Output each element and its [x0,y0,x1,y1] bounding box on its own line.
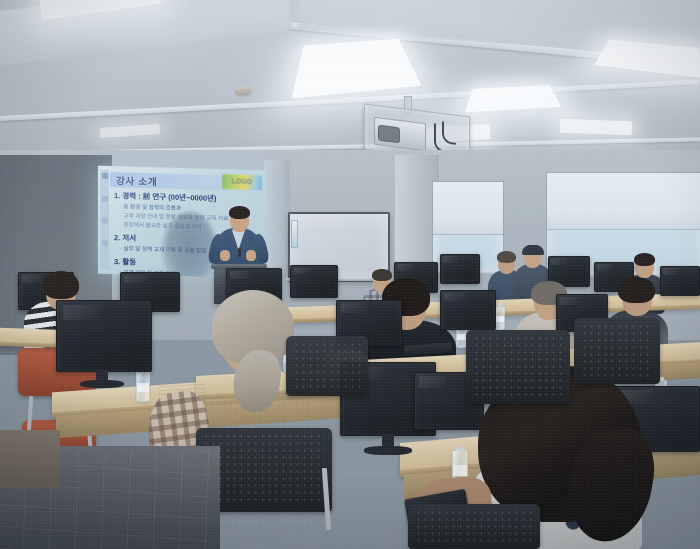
left-foreground-panel [0,430,60,488]
monitor-base [364,446,412,455]
screen-glint [443,256,458,262]
projector-lens [378,125,400,144]
presenter-hand-right [246,250,256,261]
window-blind [433,182,503,235]
slide-logo-text: LOGO [222,174,262,190]
screen-glint [444,293,466,301]
slide-logo: LOGO [222,174,262,190]
attendee-hair [43,271,79,299]
slide-title: 강사 소개 [116,173,158,188]
screen-glint [230,271,252,279]
chair-mesh [581,323,653,377]
monitor-base [80,380,124,388]
whiteboard-marker [291,220,298,248]
screen-glint [560,297,580,305]
bottle-label [457,334,466,341]
chair-mesh [415,509,533,542]
presenter-hair [229,206,250,219]
bottle-label [137,383,149,392]
smoke-detector-icon [235,86,251,95]
monitor [440,290,496,330]
monitor [56,300,152,372]
screen-glint [294,268,312,275]
microphone [238,248,241,257]
monitor-screen [56,300,152,372]
screen-glint [551,258,567,264]
screen-glint [663,268,678,274]
bottle-label [495,316,504,323]
chair-mid-right-2 [574,318,660,384]
slide-sidebar [100,170,109,270]
classroom-photo: 강사 소개 LOGO 1. 경력 : 前 연구 (00년~0000년) · 등 … [0,0,700,549]
chair-foreground-right [408,504,540,549]
monitor-screen [440,290,496,330]
attendee-hair [618,277,655,303]
chair-mesh [203,433,325,505]
chair-mesh [293,341,361,389]
screen-glint [124,275,147,283]
chair-mid-right [466,330,570,404]
screen-glint [597,264,612,270]
presenter-hand-left [220,250,230,261]
ceiling-light [560,119,632,136]
baseball-cap-icon [522,245,544,255]
screen-glint [398,264,415,270]
screen-glint [341,303,367,313]
window-blind [547,173,700,230]
screen-glint [63,305,101,320]
attendee-hair [634,253,655,266]
chair-mesh [473,335,563,397]
bottle-cap [497,303,502,307]
chair-mid-center [286,336,368,396]
